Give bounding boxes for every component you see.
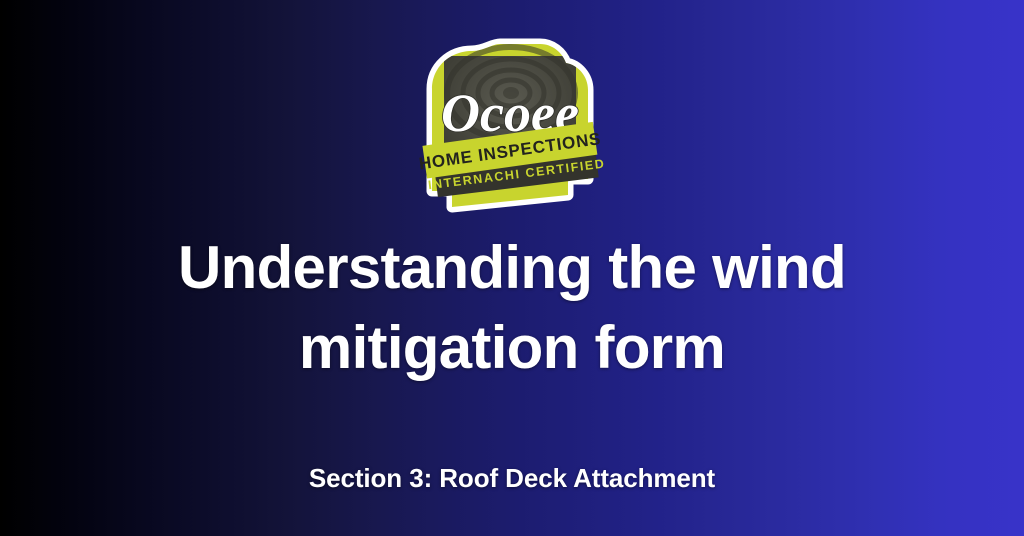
ocoee-logo-icon: Ocoee INTERNACHI CERTIFIED HOME INSPECTI… xyxy=(392,27,632,227)
title-block: Understanding the wind mitigation form xyxy=(0,228,1024,389)
logo-container: Ocoee INTERNACHI CERTIFIED HOME INSPECTI… xyxy=(392,27,632,227)
slide-title: Understanding the wind mitigation form xyxy=(162,228,862,389)
slide-subtitle: Section 3: Roof Deck Attachment xyxy=(0,462,1024,495)
slide-canvas: Ocoee INTERNACHI CERTIFIED HOME INSPECTI… xyxy=(0,0,1024,536)
subtitle-block: Section 3: Roof Deck Attachment xyxy=(0,462,1024,495)
